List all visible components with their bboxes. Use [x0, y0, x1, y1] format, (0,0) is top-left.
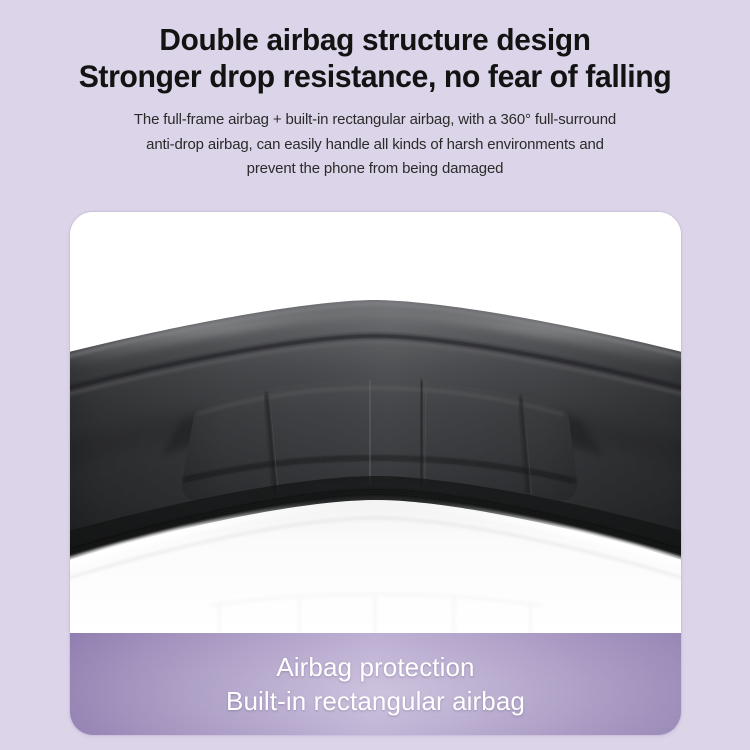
caption-line-2: Built-in rectangular airbag: [226, 684, 525, 718]
headline-line-1: Double airbag structure design: [15, 22, 735, 58]
product-card: Airbag protection Built-in rectangular a…: [69, 211, 682, 736]
description-paragraph: The full-frame airbag + built-in rectang…: [6, 94, 745, 182]
product-feature-page: Double airbag structure design Stronger …: [0, 0, 750, 750]
description-line-3: prevent the phone from being damaged: [6, 157, 745, 182]
caption-line-1: Airbag protection: [276, 650, 474, 684]
description-line-1: The full-frame airbag + built-in rectang…: [6, 108, 745, 133]
page-title: Double airbag structure design Stronger …: [15, 0, 735, 94]
product-photo: [70, 212, 681, 635]
phone-case-closeup-illustration: [70, 212, 681, 635]
caption-band: Airbag protection Built-in rectangular a…: [70, 633, 681, 735]
header-text-block: Double airbag structure design Stronger …: [0, 0, 750, 182]
headline-line-2: Stronger drop resistance, no fear of fal…: [15, 58, 735, 94]
description-line-2: anti-drop airbag, can easily handle all …: [6, 133, 745, 158]
